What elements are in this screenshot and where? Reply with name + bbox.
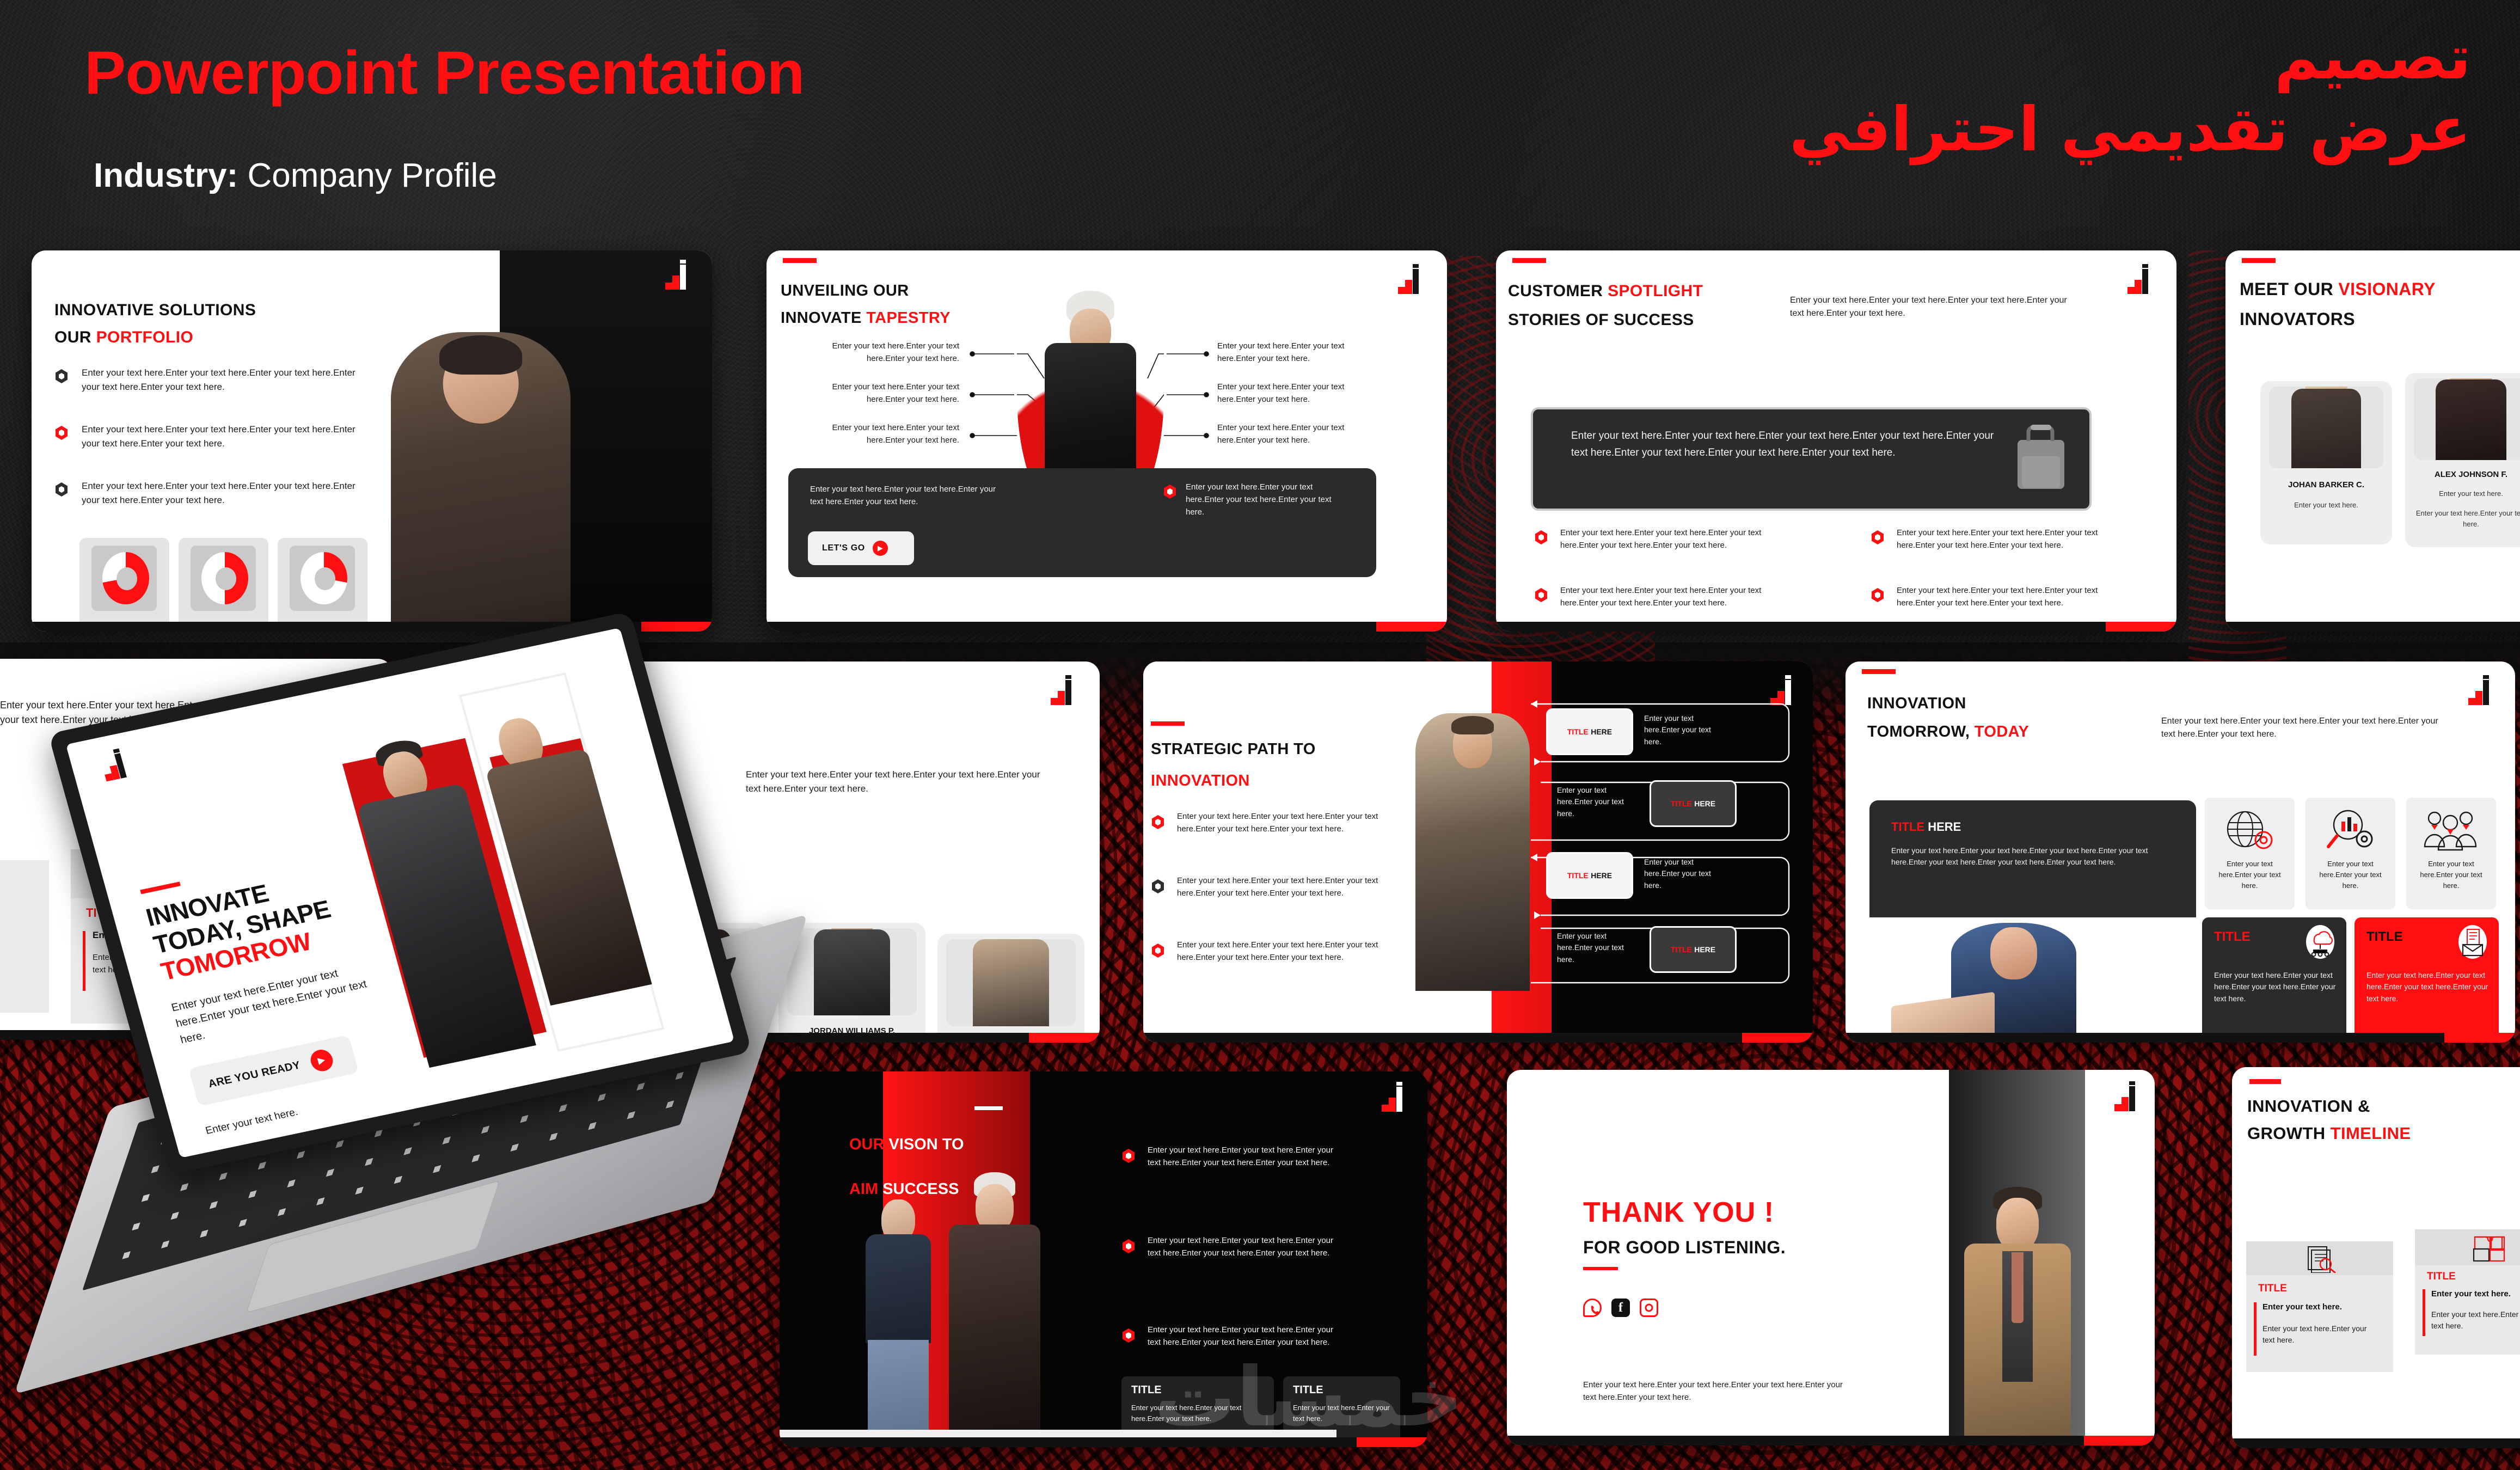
person-illustration-exec xyxy=(943,1172,1046,1447)
tapestry-callout-left: Enter your text here.Enter your text her… xyxy=(801,422,959,447)
person-name: JOHAN BARKER C. xyxy=(2260,480,2392,489)
person-card[interactable]: WILSON WALKER B. Enter your text here. xyxy=(937,934,1084,1043)
donut-chart xyxy=(102,552,149,604)
accent-rule xyxy=(2423,1289,2425,1336)
brand-logo-icon xyxy=(100,752,131,785)
whatsapp-icon[interactable] xyxy=(1583,1298,1602,1317)
arabic-headline: تصميم عرض تقديمي احترافي xyxy=(1789,22,2471,166)
tomorrow-title-line1: INNOVATION xyxy=(1867,693,1966,714)
are-you-ready-label: ARE YOU READY xyxy=(207,1059,302,1091)
slide-bottom-accent xyxy=(1742,1033,1813,1043)
slide-bottom-bar xyxy=(2232,1438,2520,1448)
slide-card-tomorrow[interactable]: INNOVATION TOMORROW, TODAY Enter your te… xyxy=(1845,661,2515,1043)
slide-bottom-bar xyxy=(1845,1033,2515,1043)
tomorrow-photo-area xyxy=(1869,917,2196,1043)
puzzle-icon xyxy=(2472,1233,2507,1263)
portfolio-title-line1: INNOVATIVE SOLUTIONS xyxy=(54,299,256,321)
thankyou-footer-text: Enter your text here.Enter your text her… xyxy=(1583,1379,1855,1404)
portfolio-title-black: OUR xyxy=(54,328,96,346)
tomorrow-title-black: TOMORROW, xyxy=(1867,723,1975,740)
are-you-ready-button[interactable]: ARE YOU READY ▶ xyxy=(188,1035,359,1106)
document-search-icon xyxy=(2303,1245,2341,1273)
tomorrow-title-red: TODAY xyxy=(1975,723,2029,740)
vision-card-text: Enter your text here.Enter your text her… xyxy=(1131,1402,1265,1424)
person-name: ALEX JOHNSON F. xyxy=(2405,470,2520,479)
accent-rule xyxy=(2254,1302,2257,1356)
slide-card-timeline[interactable]: INNOVATION & GROWTH TIMELINE TITLE Enter… xyxy=(2232,1067,2520,1448)
step-title-red: TITLE xyxy=(1567,727,1589,736)
laptop-accent-bar xyxy=(140,881,181,894)
slide-bottom-bar xyxy=(1496,622,2176,632)
vision-title-line1: OUR VISON TO xyxy=(849,1136,964,1154)
stat-card-thumb xyxy=(290,546,355,611)
slide-accent-bar xyxy=(1512,258,1546,263)
play-arrow-icon: ▶ xyxy=(308,1048,335,1073)
slide-bottom-accent xyxy=(1029,1033,1100,1043)
strategic-title-line2: INNOVATION xyxy=(1151,770,1250,791)
tomorrow-title-line2: TOMORROW, TODAY xyxy=(1867,721,2029,742)
strategic-bullet: Enter your text here.Enter your text her… xyxy=(1177,811,1384,836)
hexagon-bullet-icon xyxy=(56,426,68,440)
slide-accent-bar xyxy=(2242,258,2276,263)
timeline-title-red: TIMELINE xyxy=(2331,1124,2411,1143)
vision-bullet: Enter your text here.Enter your text her… xyxy=(1148,1324,1344,1349)
lets-go-label: LET'S GO xyxy=(822,543,865,553)
subtitle-label: Industry: xyxy=(94,157,238,194)
slide-bottom-accent xyxy=(641,622,712,632)
brand-logo-icon xyxy=(2114,1086,2138,1114)
globe-gear-icon xyxy=(2222,806,2277,855)
vision-card-title: TITLE xyxy=(1293,1384,1323,1396)
vision-title-red-2: AIM xyxy=(849,1180,882,1198)
tapestry-title-red: TAPESTRY xyxy=(866,309,951,327)
brand-logo-icon xyxy=(2127,269,2151,297)
tomorrow-hero-text: Enter your text here.Enter your text her… xyxy=(1891,845,2174,868)
thankyou-subtitle: FOR GOOD LISTENING. xyxy=(1583,1238,1786,1258)
step-title-red: TITLE xyxy=(1671,945,1692,954)
hexagon-bullet-icon xyxy=(1152,815,1164,829)
slide-bottom-bar xyxy=(1507,1436,2155,1445)
portfolio-bullet-text: Enter your text here.Enter your text her… xyxy=(82,422,359,451)
bottom-card-title: TITLE xyxy=(2214,929,2251,945)
instagram-icon[interactable] xyxy=(1640,1298,1658,1317)
person-illustration xyxy=(391,332,571,632)
strategic-bullet: Enter your text here.Enter your text her… xyxy=(1177,939,1384,964)
hexagon-bullet-icon xyxy=(1535,588,1547,602)
brand-logo-icon xyxy=(2468,680,2492,708)
portfolio-stat-card[interactable]: Enter your text here. xyxy=(79,538,169,632)
portfolio-stat-card[interactable]: Enter your text here. xyxy=(278,538,367,632)
slide-bottom-accent xyxy=(2444,1033,2515,1043)
brand-logo-icon xyxy=(665,265,689,293)
step-title-rest: HERE xyxy=(1694,799,1715,808)
page-subtitle: Industry: Company Profile xyxy=(94,159,497,193)
cloud-network-icon xyxy=(2306,925,2334,959)
slide-accent-bar xyxy=(1151,721,1185,726)
hexagon-bullet-icon xyxy=(1152,944,1164,958)
strategic-bullet: Enter your text here.Enter your text her… xyxy=(1177,875,1384,900)
timeline-title-line1: INNOVATION & xyxy=(2247,1095,2370,1118)
slide-bottom-bar xyxy=(2225,622,2520,632)
portfolio-title-line2: OUR PORTFOLIO xyxy=(54,327,193,348)
briefcase-icon xyxy=(2008,424,2073,494)
vision-card-title: TITLE xyxy=(1131,1384,1162,1396)
portfolio-stat-card[interactable]: Enter your text here. xyxy=(179,538,268,632)
person-avatar xyxy=(946,939,1076,1026)
hexagon-bullet-icon xyxy=(56,369,68,383)
hexagon-bullet-icon xyxy=(1123,1239,1135,1253)
hero-title-red: TITLE xyxy=(1891,820,1924,834)
slide-card-tapestry[interactable]: UNVEILING OUR INNOVATE TAPESTRY Enter yo… xyxy=(767,250,1447,632)
person-role: Enter your text here. xyxy=(2260,501,2392,509)
slide-bottom-accent xyxy=(2106,622,2176,632)
strategic-step-badge[interactable]: TITLE HERE xyxy=(1546,852,1633,899)
tomorrow-bottom-card[interactable]: TITLE Enter your text here.Enter your te… xyxy=(2355,917,2499,1043)
visionary-top-title-line1: MEET OUR VISIONARY xyxy=(2240,278,2436,301)
step-title-red: TITLE xyxy=(1567,871,1589,880)
spotlight-title-line1: CUSTOMER SPOTLIGHT xyxy=(1508,280,1703,302)
spotlight-title-line2: STORIES OF SUCCESS xyxy=(1508,309,1694,331)
strategic-step-badge[interactable]: TITLE HERE xyxy=(1546,708,1633,755)
slide-bottom-accent xyxy=(2084,1436,2155,1445)
timeline-title-black: GROWTH xyxy=(2247,1124,2331,1143)
person-role: Enter your text here. xyxy=(2405,489,2520,498)
slide-card-visionary-top[interactable]: MEET OUR VISIONARY INNOVATORS JOHAN BARK… xyxy=(2225,250,2520,632)
brand-logo-icon xyxy=(1051,680,1075,708)
slide-bottom-bar xyxy=(780,1437,1427,1447)
strategic-step-badge[interactable]: TITLE HERE xyxy=(1650,926,1737,973)
magnifier-gear-icon xyxy=(2323,806,2377,855)
strategic-step-text: Enter your text here.Enter your text her… xyxy=(1557,785,1639,819)
timeline-step-card[interactable]: TITLE Enter your text here. Enter your t… xyxy=(2246,1241,2393,1372)
thankyou-accent-rule xyxy=(1583,1267,1618,1270)
tapestry-callout-left: Enter your text here.Enter your text her… xyxy=(801,381,959,406)
hexagon-bullet-icon xyxy=(1152,879,1164,893)
tomorrow-hero-panel: TITLE HERE Enter your text here.Enter yo… xyxy=(1869,800,2196,936)
tapestry-title-line2: INNOVATE TAPESTRY xyxy=(781,308,951,328)
step-title-red: TITLE xyxy=(1671,799,1692,808)
timeline-title-line2: GROWTH TIMELINE xyxy=(2247,1123,2411,1145)
strategic-step-text: Enter your text here.Enter your text her… xyxy=(1557,930,1639,965)
spotlight-quote-panel: Enter your text here.Enter your text her… xyxy=(1531,407,2092,511)
spotlight-bullet: Enter your text here.Enter your text her… xyxy=(1897,585,2098,610)
tapestry-panel-right-text: Enter your text here.Enter your text her… xyxy=(1186,481,1338,518)
spotlight-bullet: Enter your text here.Enter your text her… xyxy=(1560,585,1762,610)
spotlight-bullet: Enter your text here.Enter your text her… xyxy=(1897,527,2098,552)
vision-bottom-strip xyxy=(780,1430,1336,1437)
laptop-mockup: INNOVATE TODAY, SHAPE TOMORROW Enter you… xyxy=(33,648,806,1334)
tapestry-callout-left: Enter your text here.Enter your text her… xyxy=(801,340,959,365)
stat-card-thumb xyxy=(91,546,157,611)
thankyou-title: THANK YOU ! xyxy=(1583,1196,1774,1229)
slide-bottom-bar xyxy=(1143,1033,1813,1043)
tomorrow-bottom-card[interactable]: TITLE Enter your text here.Enter your te… xyxy=(2202,917,2346,1043)
feature-tile-text: Enter your text here.Enter your text her… xyxy=(2413,859,2490,891)
visionary-top-title-red: VISIONARY xyxy=(2338,279,2435,299)
strategic-title-line1: STRATEGIC PATH TO xyxy=(1151,739,1316,759)
hexagon-bullet-icon xyxy=(1164,485,1176,499)
timeline-step-text: Enter your text here.Enter your text her… xyxy=(2263,1323,2380,1346)
timeline-step-heading: Enter your text here. xyxy=(2263,1302,2380,1312)
visionary-top-title-black: MEET OUR xyxy=(2240,279,2338,299)
spotlight-title-red: SPOTLIGHT xyxy=(1608,282,1703,300)
social-links[interactable]: f xyxy=(1583,1298,1658,1317)
tapestry-callout-right: Enter your text here.Enter your text her… xyxy=(1217,381,1381,406)
hexagon-bullet-icon xyxy=(1872,588,1884,602)
tapestry-callout-right: Enter your text here.Enter your text her… xyxy=(1217,422,1381,447)
step-title-rest: HERE xyxy=(1591,871,1612,880)
slide-card-spotlight[interactable]: CUSTOMER SPOTLIGHT STORIES OF SUCCESS En… xyxy=(1496,250,2176,632)
timeline-step-title: TITLE xyxy=(2427,1271,2456,1283)
vision-title-red-1: OUR xyxy=(849,1136,889,1153)
bottom-card-title: TITLE xyxy=(2366,929,2403,945)
tapestry-title-line1: UNVEILING OUR xyxy=(781,280,909,301)
slide-card-thankyou[interactable]: THANK YOU ! FOR GOOD LISTENING. f Enter … xyxy=(1507,1070,2155,1445)
slide-bottom-bar xyxy=(767,622,1447,632)
tapestry-panel-left-text: Enter your text here.Enter your text her… xyxy=(810,483,1001,509)
vision-title-white-1: VISON TO xyxy=(889,1136,964,1153)
strategic-step-text: Enter your text here.Enter your text her… xyxy=(1644,713,1726,748)
brand-logo-icon xyxy=(1398,269,1422,297)
hexagon-bullet-icon xyxy=(56,482,68,497)
step-title-rest: HERE xyxy=(1591,727,1612,736)
page-title: Powerpoint Presentation xyxy=(84,42,804,103)
step-title-rest: HERE xyxy=(1694,945,1715,954)
feature-tile[interactable]: Enter your text here.Enter your text her… xyxy=(2205,798,2295,909)
portfolio-title-red: PORTFOLIO xyxy=(96,328,194,346)
feature-tile[interactable]: Enter your text here.Enter your text her… xyxy=(2406,798,2496,909)
person-illustration xyxy=(1961,1187,2073,1445)
slide-accent-bar xyxy=(974,1106,1003,1110)
timeline-step-heading: Enter your text here. xyxy=(2431,1289,2520,1298)
bottom-card-text: Enter your text here.Enter your text her… xyxy=(2366,970,2489,1004)
team-people-icon xyxy=(2420,806,2480,855)
hero-title-rest: HERE xyxy=(1928,820,1961,834)
portfolio-bullet-text: Enter your text here.Enter your text her… xyxy=(82,479,359,507)
person-desc: Enter your text here.Enter your text her… xyxy=(2414,508,2520,529)
timeline-step-title: TITLE xyxy=(2258,1283,2287,1295)
facebook-icon[interactable]: f xyxy=(1611,1298,1630,1317)
person-avatar xyxy=(2269,387,2383,468)
arabic-line-1: تصميم xyxy=(1789,22,2471,94)
slide-card-portfolio[interactable]: INNOVATIVE SOLUTIONS OUR PORTFOLIO Enter… xyxy=(32,250,712,632)
brand-logo-icon xyxy=(1382,1087,1406,1115)
tapestry-dark-panel: Enter your text here.Enter your text her… xyxy=(788,468,1376,577)
subtitle-value: Company Profile xyxy=(247,157,496,194)
vision-bullet: Enter your text here.Enter your text her… xyxy=(1148,1235,1344,1260)
portfolio-bullet-text: Enter your text here.Enter your text her… xyxy=(82,366,359,394)
person-avatar xyxy=(787,928,917,1015)
tapestry-callout-right: Enter your text here.Enter your text her… xyxy=(1217,340,1381,365)
arabic-line-2: عرض تقديمي احترافي xyxy=(1789,94,2471,166)
hexagon-bullet-icon xyxy=(1123,1328,1135,1343)
feature-tile-text: Enter your text here.Enter your text her… xyxy=(2211,859,2288,891)
spotlight-bullet: Enter your text here.Enter your text her… xyxy=(1560,527,1762,552)
person-card[interactable]: JOHAN BARKER C. Enter your text here. xyxy=(2260,381,2392,544)
feature-tile[interactable]: Enter your text here.Enter your text her… xyxy=(2306,798,2395,909)
spotlight-quote-text: Enter your text here.Enter your text her… xyxy=(1571,428,2001,462)
hexagon-bullet-icon xyxy=(1872,530,1884,544)
page-header: Powerpoint Presentation Industry: Compan… xyxy=(0,0,2520,240)
slide-card-vision[interactable]: OUR VISON TO AIM SUCCESS Enter your text… xyxy=(780,1071,1427,1447)
hexagon-bullet-icon xyxy=(1535,530,1547,544)
slide-card-strategic[interactable]: STRATEGIC PATH TO INNOVATION Enter your … xyxy=(1143,661,1813,1043)
person-avatar xyxy=(2414,378,2520,460)
bottom-card-text: Enter your text here.Enter your text her… xyxy=(2214,970,2337,1004)
person-illustration-elder xyxy=(861,1199,935,1447)
timeline-step-text: Enter your text here.Enter your text her… xyxy=(2431,1309,2520,1332)
visionary-top-title-line2: INNOVATORS xyxy=(2240,308,2355,330)
vision-bullet: Enter your text here.Enter your text her… xyxy=(1148,1144,1344,1169)
slide-bottom-accent xyxy=(1376,622,1447,632)
lets-go-button[interactable]: LET'S GO ▶ xyxy=(808,531,914,565)
strategic-step-text: Enter your text here.Enter your text her… xyxy=(1644,856,1726,891)
person-card[interactable]: ALEX JOHNSON F. Enter your text here. En… xyxy=(2405,373,2520,547)
feature-tile-text: Enter your text here.Enter your text her… xyxy=(2312,859,2389,891)
donut-chart xyxy=(201,552,248,604)
slide-accent-bar xyxy=(2249,1079,2281,1084)
tapestry-title-black: INNOVATE xyxy=(781,309,866,327)
donut-chart xyxy=(301,552,347,604)
vision-card-text: Enter your text here.Enter your text her… xyxy=(1293,1402,1391,1424)
mail-document-icon xyxy=(2458,925,2487,959)
tomorrow-hero-title: TITLE HERE xyxy=(1891,820,1961,834)
strategic-step-badge[interactable]: TITLE HERE xyxy=(1650,780,1737,827)
timeline-step-card[interactable]: TITLE Enter your text here. Enter your t… xyxy=(2415,1229,2520,1355)
spotlight-title-black: CUSTOMER xyxy=(1508,282,1608,300)
hexagon-bullet-icon xyxy=(1123,1149,1135,1163)
tomorrow-intro: Enter your text here.Enter your text her… xyxy=(2161,715,2450,742)
slide-bottom-accent xyxy=(1357,1437,1427,1447)
slide-accent-bar xyxy=(1862,669,1896,674)
play-arrow-icon: ▶ xyxy=(873,541,888,556)
stat-card-thumb xyxy=(191,546,256,611)
slide-accent-bar xyxy=(783,258,817,263)
spotlight-intro: Enter your text here.Enter your text her… xyxy=(1790,294,2078,321)
person-illustration xyxy=(1415,713,1530,991)
